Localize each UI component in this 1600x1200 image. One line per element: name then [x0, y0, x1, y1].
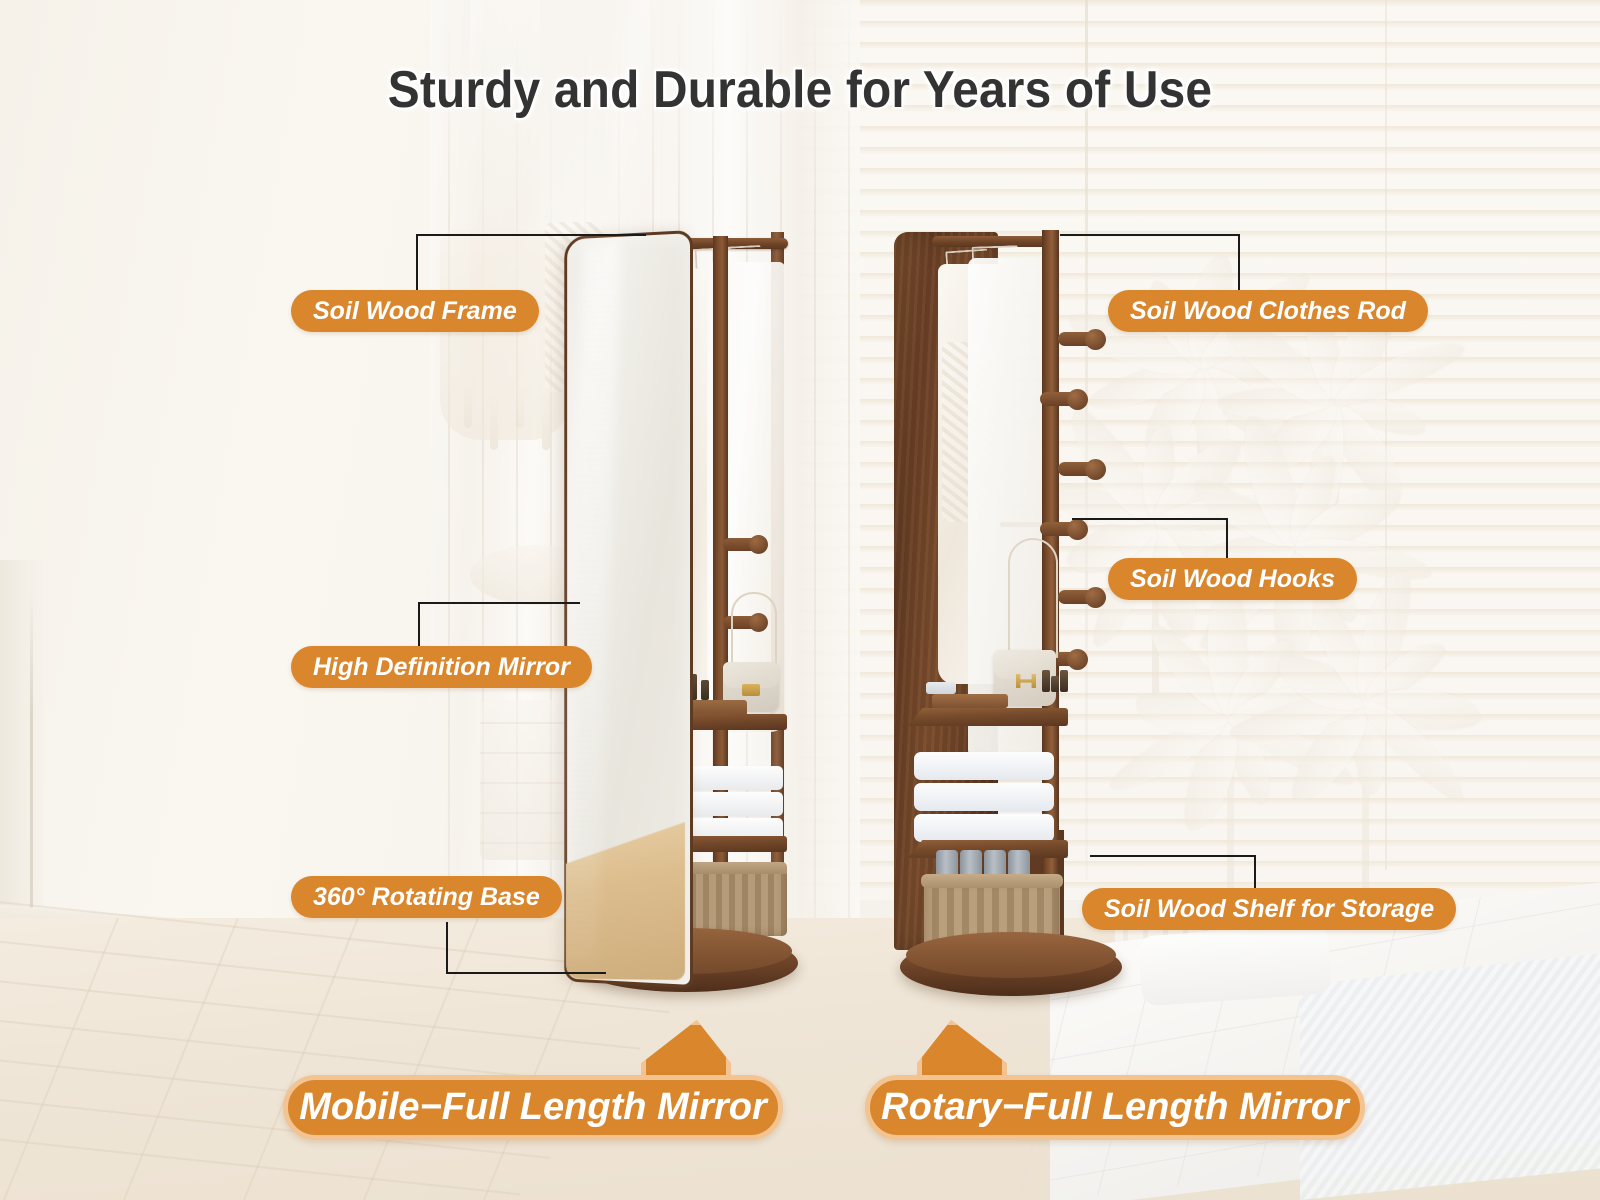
callout-label: 360° Rotating Base	[313, 883, 540, 912]
plant-leaf	[1271, 647, 1374, 722]
callout-soil-wood-clothes-rod[interactable]: Soil Wood Clothes Rod	[1108, 290, 1428, 332]
callout-label: Soil Wood Frame	[313, 297, 517, 326]
plant-leaf	[1217, 385, 1335, 421]
a-vial-2	[701, 680, 709, 700]
b-perfume-vials	[1042, 670, 1068, 698]
b-folded-clothes-stack	[914, 752, 1054, 842]
wall-corner	[0, 560, 44, 1060]
blind-slat	[800, 21, 1600, 28]
banner-label: Mobile−Full Length Mirror	[299, 1086, 767, 1129]
b-vial	[1051, 676, 1059, 692]
plant-leaf	[1140, 424, 1177, 521]
plant-leaf	[1281, 451, 1343, 550]
bag-tassel	[464, 380, 472, 428]
floor-seam	[3, 918, 119, 1200]
connector-soil-wood-frame-v	[416, 234, 418, 296]
quilt-stitch	[1417, 897, 1481, 1157]
blind-slat	[800, 189, 1600, 196]
a-towel	[679, 766, 783, 790]
callout-label: Soil Wood Shelf for Storage	[1104, 895, 1434, 924]
b-folded-cloth	[914, 814, 1054, 842]
bag-tassel	[490, 380, 498, 450]
callout-rotating-base[interactable]: 360° Rotating Base	[291, 876, 562, 918]
blind-slat	[800, 42, 1600, 49]
wall-corner-line	[30, 590, 33, 1020]
plant-leaf	[1206, 580, 1250, 720]
a-towel	[679, 792, 783, 816]
plant-leaf	[1331, 386, 1431, 442]
b-hook-2	[1040, 392, 1080, 406]
banner-mobile-full-length-mirror[interactable]: Mobile−Full Length Mirror	[283, 1020, 783, 1140]
b-folded-cloth	[926, 682, 956, 694]
connector-clothes-rod-v	[1238, 234, 1240, 296]
plant-leaf	[1187, 472, 1303, 558]
product-mobile-full-length-mirror	[545, 222, 795, 992]
curtain-fold	[482, 0, 484, 1000]
plant-leaf	[1153, 491, 1294, 535]
curtain-fold	[448, 0, 450, 1000]
banner-label-wrap[interactable]: Rotary−Full Length Mirror	[865, 1075, 1365, 1140]
bag-tassel	[516, 380, 524, 428]
plant-leaf	[1302, 588, 1379, 707]
connector-hd-mirror-v	[418, 602, 420, 650]
plant-leaf	[1231, 412, 1313, 556]
plant-leaf	[1329, 332, 1469, 414]
b-basket-rim	[921, 874, 1063, 888]
plant-leaf	[1363, 685, 1483, 734]
callout-label: High Definition Mirror	[313, 653, 570, 682]
plant-leaf	[1226, 676, 1349, 738]
plant-leaf	[1356, 633, 1451, 712]
plant-leaf	[1354, 689, 1474, 809]
b-hook-5	[1058, 590, 1098, 604]
b-folded-cloth	[914, 783, 1054, 811]
connector-rotating-base-v	[446, 922, 448, 974]
bed-pillow	[1138, 923, 1332, 1006]
connector-clothes-rod-h	[1060, 234, 1240, 236]
curtain-fold	[516, 0, 518, 1000]
plant-leaf	[1175, 713, 1248, 836]
plant-leaf	[1223, 702, 1360, 794]
callout-label: Soil Wood Clothes Rod	[1130, 297, 1406, 326]
plant-leaf	[1286, 476, 1407, 567]
connector-hd-mirror-h	[418, 602, 580, 604]
b-vial	[1060, 670, 1068, 692]
b-vial	[1042, 670, 1050, 692]
plant-leaf	[1282, 693, 1381, 811]
plant-stem	[1152, 505, 1159, 713]
b-hook-3	[1058, 462, 1098, 476]
b-folded-cloth	[914, 752, 1054, 780]
callout-soil-wood-shelf[interactable]: Soil Wood Shelf for Storage	[1082, 888, 1456, 930]
b-shelf-top	[908, 708, 1068, 726]
b-rotating-base-top	[906, 932, 1116, 978]
plant-leaf	[1346, 565, 1420, 709]
curtain-fold	[848, 0, 850, 980]
floor-seam	[0, 1139, 520, 1196]
infographic-canvas: Sturdy and Durable for Years of Use Soil…	[0, 0, 1600, 1200]
callout-label: Soil Wood Hooks	[1130, 565, 1335, 594]
blind-slat	[800, 147, 1600, 154]
callout-soil-wood-frame[interactable]: Soil Wood Frame	[291, 290, 539, 332]
product-rotary-full-length-mirror	[890, 222, 1130, 992]
blind-edge-right	[1385, 0, 1387, 870]
connector-rotating-base-h	[446, 972, 606, 974]
plant-leaf	[1187, 355, 1302, 460]
blind-slat	[800, 0, 1600, 7]
floor-seam	[123, 918, 239, 1200]
banner-label-wrap[interactable]: Mobile−Full Length Mirror	[283, 1075, 783, 1140]
page-title: Sturdy and Durable for Years of Use	[64, 60, 1536, 120]
blind-slat	[800, 210, 1600, 217]
connector-soil-wood-frame-h	[416, 234, 646, 236]
plant-leaf	[1141, 427, 1250, 538]
a-handbag-clasp	[742, 684, 760, 696]
plant-leaf	[1319, 394, 1415, 513]
plant-leaf	[1350, 699, 1388, 796]
b-garment-belt	[1000, 522, 1044, 527]
banner-rotary-full-length-mirror[interactable]: Rotary−Full Length Mirror	[865, 1020, 1365, 1140]
plant-leaf	[1252, 390, 1348, 483]
plant-leaf	[1216, 709, 1279, 808]
connector-hooks-h	[1072, 518, 1228, 520]
curtain-fold	[814, 0, 816, 980]
b-tray	[932, 694, 1008, 708]
plant-leaf	[1200, 350, 1295, 380]
a-hook-1	[723, 538, 761, 551]
a-bag-strap	[731, 592, 777, 668]
b-bag-strap	[1008, 538, 1058, 658]
b-hook-1	[1058, 332, 1098, 346]
plant-leaf	[1133, 687, 1233, 739]
callout-high-definition-mirror[interactable]: High Definition Mirror	[291, 646, 592, 688]
plant-leaf	[1136, 360, 1217, 462]
b-hook-4	[1040, 522, 1080, 536]
a-towel-stack	[679, 766, 783, 842]
blind-slat	[800, 168, 1600, 175]
plant-leaf	[1218, 631, 1300, 724]
a-basket-rim	[683, 862, 787, 874]
callout-soil-wood-hooks[interactable]: Soil Wood Hooks	[1108, 558, 1357, 600]
plant-stem	[1197, 350, 1204, 530]
a-woven-basket	[683, 862, 787, 936]
connector-shelf-h	[1090, 855, 1256, 857]
blind-slat	[800, 126, 1600, 133]
banner-label: Rotary−Full Length Mirror	[881, 1086, 1349, 1129]
plant-leaf	[1227, 686, 1369, 751]
plant-leaf	[1141, 618, 1242, 725]
plant-stem	[1332, 385, 1339, 579]
plant-leaf	[1185, 362, 1239, 504]
plant-leaf	[1303, 398, 1350, 540]
